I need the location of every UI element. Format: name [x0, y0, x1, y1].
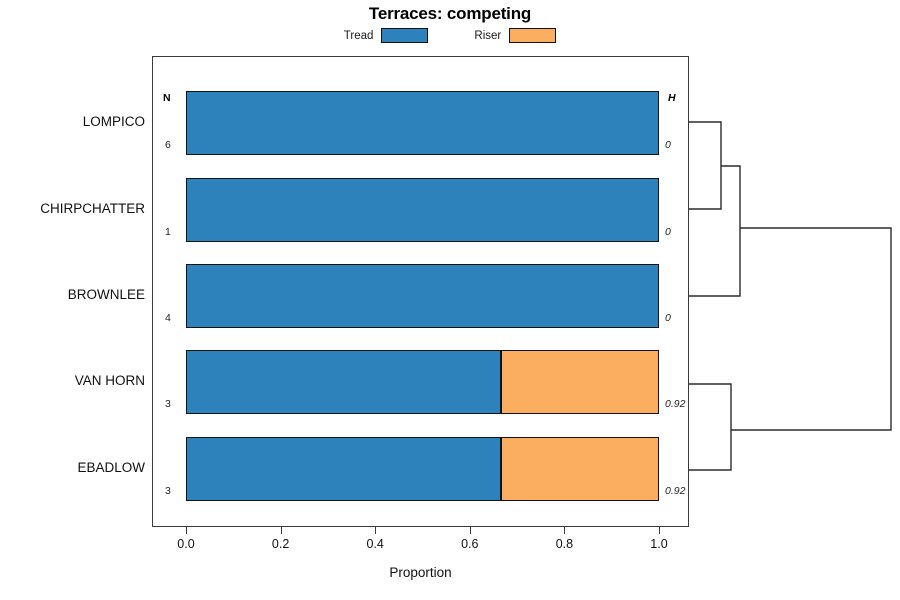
- legend-label-tread: Tread: [344, 30, 374, 42]
- bar-segment-tread[interactable]: [186, 350, 501, 414]
- dendrogram-link-vanhorn-ebadlow: [689, 384, 731, 470]
- legend-swatch-tread-icon: [381, 28, 428, 43]
- bar-segment-riser[interactable]: [501, 350, 659, 414]
- dendrogram-svg: [689, 56, 900, 527]
- x-tick-mark: [470, 527, 471, 534]
- legend-swatch-riser-icon: [509, 28, 556, 43]
- x-tick-mark: [186, 527, 187, 534]
- chart-title: Terraces: competing: [0, 4, 900, 24]
- dendrogram: [689, 56, 900, 527]
- x-tick-mark: [281, 527, 282, 534]
- x-tick-label: 0.2: [261, 537, 301, 551]
- legend-label-riser: Riser: [474, 30, 501, 42]
- x-tick-mark: [375, 527, 376, 534]
- dendrogram-link-upper-brownlee: [689, 166, 740, 296]
- dendrogram-link-lompico-chirpchatter: [689, 122, 721, 209]
- bar-segment-tread[interactable]: [186, 91, 659, 155]
- dendrogram-link-root: [731, 228, 891, 430]
- chart-legend: Tread Riser: [0, 28, 900, 43]
- bar-segment-riser[interactable]: [501, 437, 659, 501]
- x-tick-label: 0.0: [166, 537, 206, 551]
- legend-entry-riser: Riser: [474, 28, 556, 43]
- bar-segment-tread[interactable]: [186, 264, 659, 328]
- bar-segment-tread[interactable]: [186, 437, 501, 501]
- x-tick-mark: [564, 527, 565, 534]
- legend-entry-tread: Tread: [344, 28, 429, 43]
- x-tick-label: 0.8: [544, 537, 584, 551]
- x-tick-mark: [659, 527, 660, 534]
- bar-segment-tread[interactable]: [186, 178, 659, 242]
- chart-canvas: Terraces: competing Tread Riser N H LOMP…: [0, 0, 900, 600]
- x-tick-label: 0.4: [355, 537, 395, 551]
- dendrogram-links: [689, 122, 891, 470]
- x-tick-label: 0.6: [450, 537, 490, 551]
- x-tick-label: 1.0: [639, 537, 679, 551]
- x-axis-title: Proportion: [152, 565, 689, 580]
